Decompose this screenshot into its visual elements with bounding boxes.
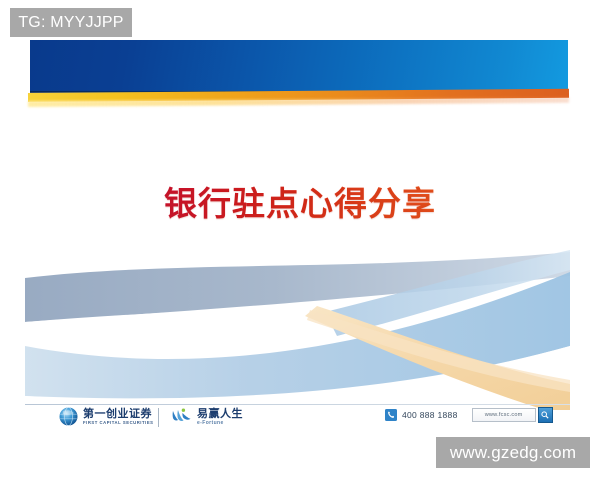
footer-contact: 400 888 1888 www.fcsc.com [385,408,553,422]
header-blue-band [30,40,568,92]
figure-icon [170,407,192,426]
decorative-ribbon-artwork [25,250,570,410]
presentation-slide: 银行驻点心得分享 [0,0,600,480]
search-button[interactable] [538,407,553,423]
phone-number: 400 888 1888 [402,410,458,420]
url-search-box[interactable]: www.fcsc.com [472,408,553,422]
logo-divider [158,408,159,427]
slide-footer: 第一创业证券 FIRST CAPITAL SECURITIES 易赢人生 e-F… [25,405,570,431]
url-field[interactable]: www.fcsc.com [472,408,536,422]
search-icon [541,411,549,419]
logo-efortune-name-en: e-Fortune [197,421,243,426]
logo-efortune-text: 易赢人生 e-Fortune [197,408,243,426]
logo-efortune-name-cn: 易赢人生 [197,408,243,419]
phone-icon [385,409,397,421]
logo-fcs-text: 第一创业证券 FIRST CAPITAL SECURITIES [83,408,154,425]
watermark-bottom: www.gzedg.com [436,437,590,468]
globe-icon [59,407,78,426]
logo-first-capital-securities: 第一创业证券 FIRST CAPITAL SECURITIES [59,407,154,426]
logo-fcs-name-cn: 第一创业证券 [83,408,154,419]
slide-title: 银行驻点心得分享 [164,186,436,222]
watermark-top: TG: MYYJJPP [10,8,132,37]
logo-fcs-name-en: FIRST CAPITAL SECURITIES [83,421,154,425]
title-container: 银行驻点心得分享 [0,186,600,222]
logo-e-fortune: 易赢人生 e-Fortune [170,407,243,426]
